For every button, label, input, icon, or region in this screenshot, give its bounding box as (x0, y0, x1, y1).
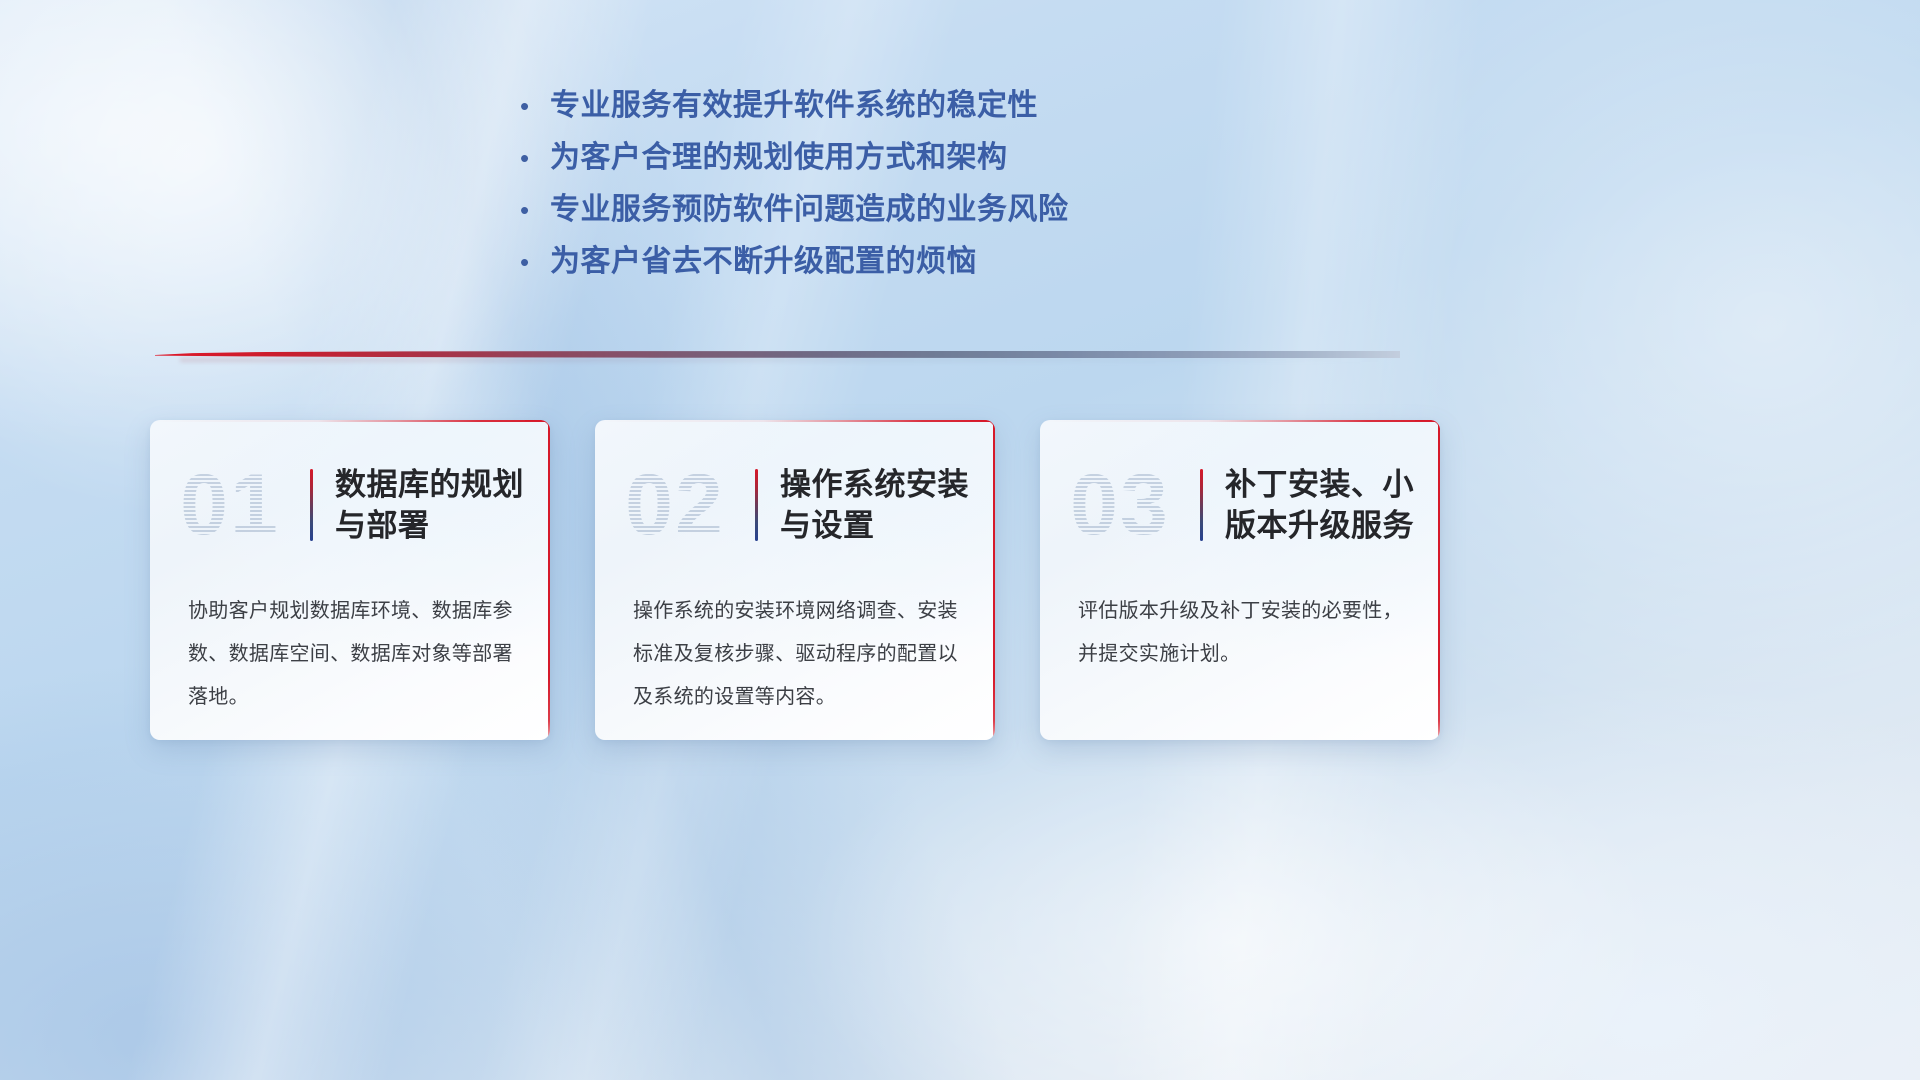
bullet-text: 为客户省去不断升级配置的烦恼 (550, 242, 977, 282)
bullet-dot-icon: • (520, 138, 550, 178)
card-description: 评估版本升级及补丁安装的必要性，并提交实施计划。 (1078, 590, 1406, 676)
card-header: 03 补丁安装、小版本升级服务 (1040, 446, 1440, 564)
benefits-bullet-list: • 专业服务有效提升软件系统的稳定性 • 为客户合理的规划使用方式和架构 • 专… (520, 86, 1420, 294)
card-divider-bar (755, 469, 758, 541)
bullet-text: 专业服务有效提升软件系统的稳定性 (550, 86, 1038, 126)
card-title: 数据库的规划与部署 (335, 464, 535, 546)
card-description: 协助客户规划数据库环境、数据库参数、数据库空间、数据库对象等部署落地。 (188, 590, 516, 719)
service-card-list: 01 数据库的规划与部署 协助客户规划数据库环境、数据库参数、数据库空间、数据库… (150, 420, 1440, 740)
service-card[interactable]: 01 数据库的规划与部署 协助客户规划数据库环境、数据库参数、数据库空间、数据库… (150, 420, 550, 740)
card-corner-accent (1415, 420, 1440, 445)
bullet-dot-icon: • (520, 86, 550, 126)
card-number: 02 (595, 450, 755, 560)
bullet-dot-icon: • (520, 242, 550, 282)
card-divider-bar (1200, 469, 1203, 541)
service-card[interactable]: 02 操作系统安装与设置 操作系统的安装环境网络调查、安装标准及复核步骤、驱动程… (595, 420, 995, 740)
bullet-text: 专业服务预防软件问题造成的业务风险 (550, 190, 1069, 230)
list-item: • 专业服务预防软件问题造成的业务风险 (520, 190, 1420, 242)
card-accent-top (595, 420, 995, 422)
divider-rule (155, 351, 1400, 358)
card-accent-top (1040, 420, 1440, 422)
card-corner-accent (970, 420, 995, 445)
list-item: • 为客户省去不断升级配置的烦恼 (520, 242, 1420, 294)
list-item: • 专业服务有效提升软件系统的稳定性 (520, 86, 1420, 138)
slide-stage: • 专业服务有效提升软件系统的稳定性 • 为客户合理的规划使用方式和架构 • 专… (0, 0, 1920, 1080)
card-number: 01 (150, 450, 310, 560)
section-divider (155, 348, 1400, 362)
card-description: 操作系统的安装环境网络调查、安装标准及复核步骤、驱动程序的配置以及系统的设置等内… (633, 590, 961, 719)
card-number: 03 (1040, 450, 1200, 560)
bullet-text: 为客户合理的规划使用方式和架构 (550, 138, 1008, 178)
card-header: 02 操作系统安装与设置 (595, 446, 995, 564)
card-header: 01 数据库的规划与部署 (150, 446, 550, 564)
card-accent-top (150, 420, 550, 422)
bullet-dot-icon: • (520, 190, 550, 230)
divider-shadow (180, 358, 1388, 362)
card-divider-bar (310, 469, 313, 541)
list-item: • 为客户合理的规划使用方式和架构 (520, 138, 1420, 190)
card-title: 操作系统安装与设置 (780, 464, 980, 546)
service-card[interactable]: 03 补丁安装、小版本升级服务 评估版本升级及补丁安装的必要性，并提交实施计划。 (1040, 420, 1440, 740)
card-title: 补丁安装、小版本升级服务 (1225, 464, 1425, 546)
card-corner-accent (525, 420, 550, 445)
